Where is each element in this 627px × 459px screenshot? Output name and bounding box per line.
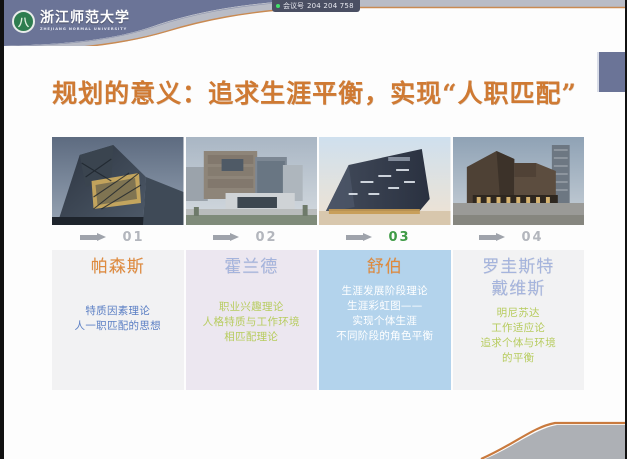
bottom-right-decoration	[425, 407, 625, 459]
photo-building-03	[319, 137, 451, 225]
right-arrow-icon	[346, 233, 372, 242]
meeting-label: 会议号	[283, 1, 304, 11]
brand-name-en: ZHEJIANG NORMAL UNIVERSITY	[40, 28, 130, 32]
slide-canvas: 八 浙江师范大学 ZHEJIANG NORMAL UNIVERSITY 会议号 …	[0, 0, 627, 459]
step-number-02: 02	[243, 230, 291, 245]
meeting-number: 204 204 758	[307, 2, 354, 10]
photo-building-02	[186, 137, 318, 225]
theory-description: 生涯发展阶段理论生涯彩虹图——实现个体生涯不同阶段的角色平衡	[336, 284, 433, 344]
right-arrow-icon	[479, 233, 505, 242]
step-number-row: 01 02 03 04	[52, 227, 584, 247]
right-edge-tab	[597, 52, 625, 92]
step-number-04: 04	[509, 230, 557, 245]
theory-columns: 帕森斯 特质因素理论人一职匹配的思想 霍兰德 职业兴趣理论人格特质与工作环境相匹…	[52, 250, 584, 390]
theory-description: 职业兴趣理论人格特质与工作环境相匹配理论	[203, 300, 300, 345]
step-cell: 01	[52, 227, 185, 247]
step-number-03: 03	[376, 230, 424, 245]
theory-column-1[interactable]: 帕森斯 特质因素理论人一职匹配的思想	[52, 250, 184, 390]
theory-description: 特质因素理论人一职匹配的思想	[75, 304, 161, 334]
photo-building-01	[52, 137, 184, 225]
theory-column-2[interactable]: 霍兰德 职业兴趣理论人格特质与工作环境相匹配理论	[186, 250, 318, 390]
brand-text: 浙江师范大学 ZHEJIANG NORMAL UNIVERSITY	[40, 11, 130, 32]
step-number-01: 01	[110, 230, 158, 245]
meeting-id-bar[interactable]: 会议号 204 204 758	[272, 0, 360, 12]
green-dot-icon	[276, 4, 280, 8]
step-cell: 02	[185, 227, 318, 247]
brand-name-cn: 浙江师范大学	[40, 11, 130, 25]
step-cell: 03	[318, 227, 451, 247]
theory-column-4[interactable]: 罗圭斯特戴维斯 明尼苏达工作适应论追求个体与环境的平衡	[453, 250, 585, 390]
theory-column-3[interactable]: 舒伯 生涯发展阶段理论生涯彩虹图——实现个体生涯不同阶段的角色平衡	[319, 250, 451, 390]
theorist-name: 霍兰德	[224, 256, 278, 278]
photo-strip	[52, 137, 584, 225]
right-arrow-icon	[80, 233, 106, 242]
theorist-name: 罗圭斯特戴维斯	[482, 256, 554, 300]
theorist-name: 帕森斯	[91, 256, 145, 278]
photo-building-04	[453, 137, 585, 225]
theorist-name: 舒伯	[367, 256, 403, 278]
step-cell: 04	[451, 227, 584, 247]
theory-description: 明尼苏达工作适应论追求个体与环境的平衡	[480, 306, 556, 366]
brand-logo: 八 浙江师范大学 ZHEJIANG NORMAL UNIVERSITY	[12, 10, 130, 33]
university-crest-icon: 八	[12, 10, 35, 33]
page-title: 规划的意义：追求生涯平衡，实现“人职匹配”	[4, 74, 625, 110]
right-arrow-icon	[213, 233, 239, 242]
